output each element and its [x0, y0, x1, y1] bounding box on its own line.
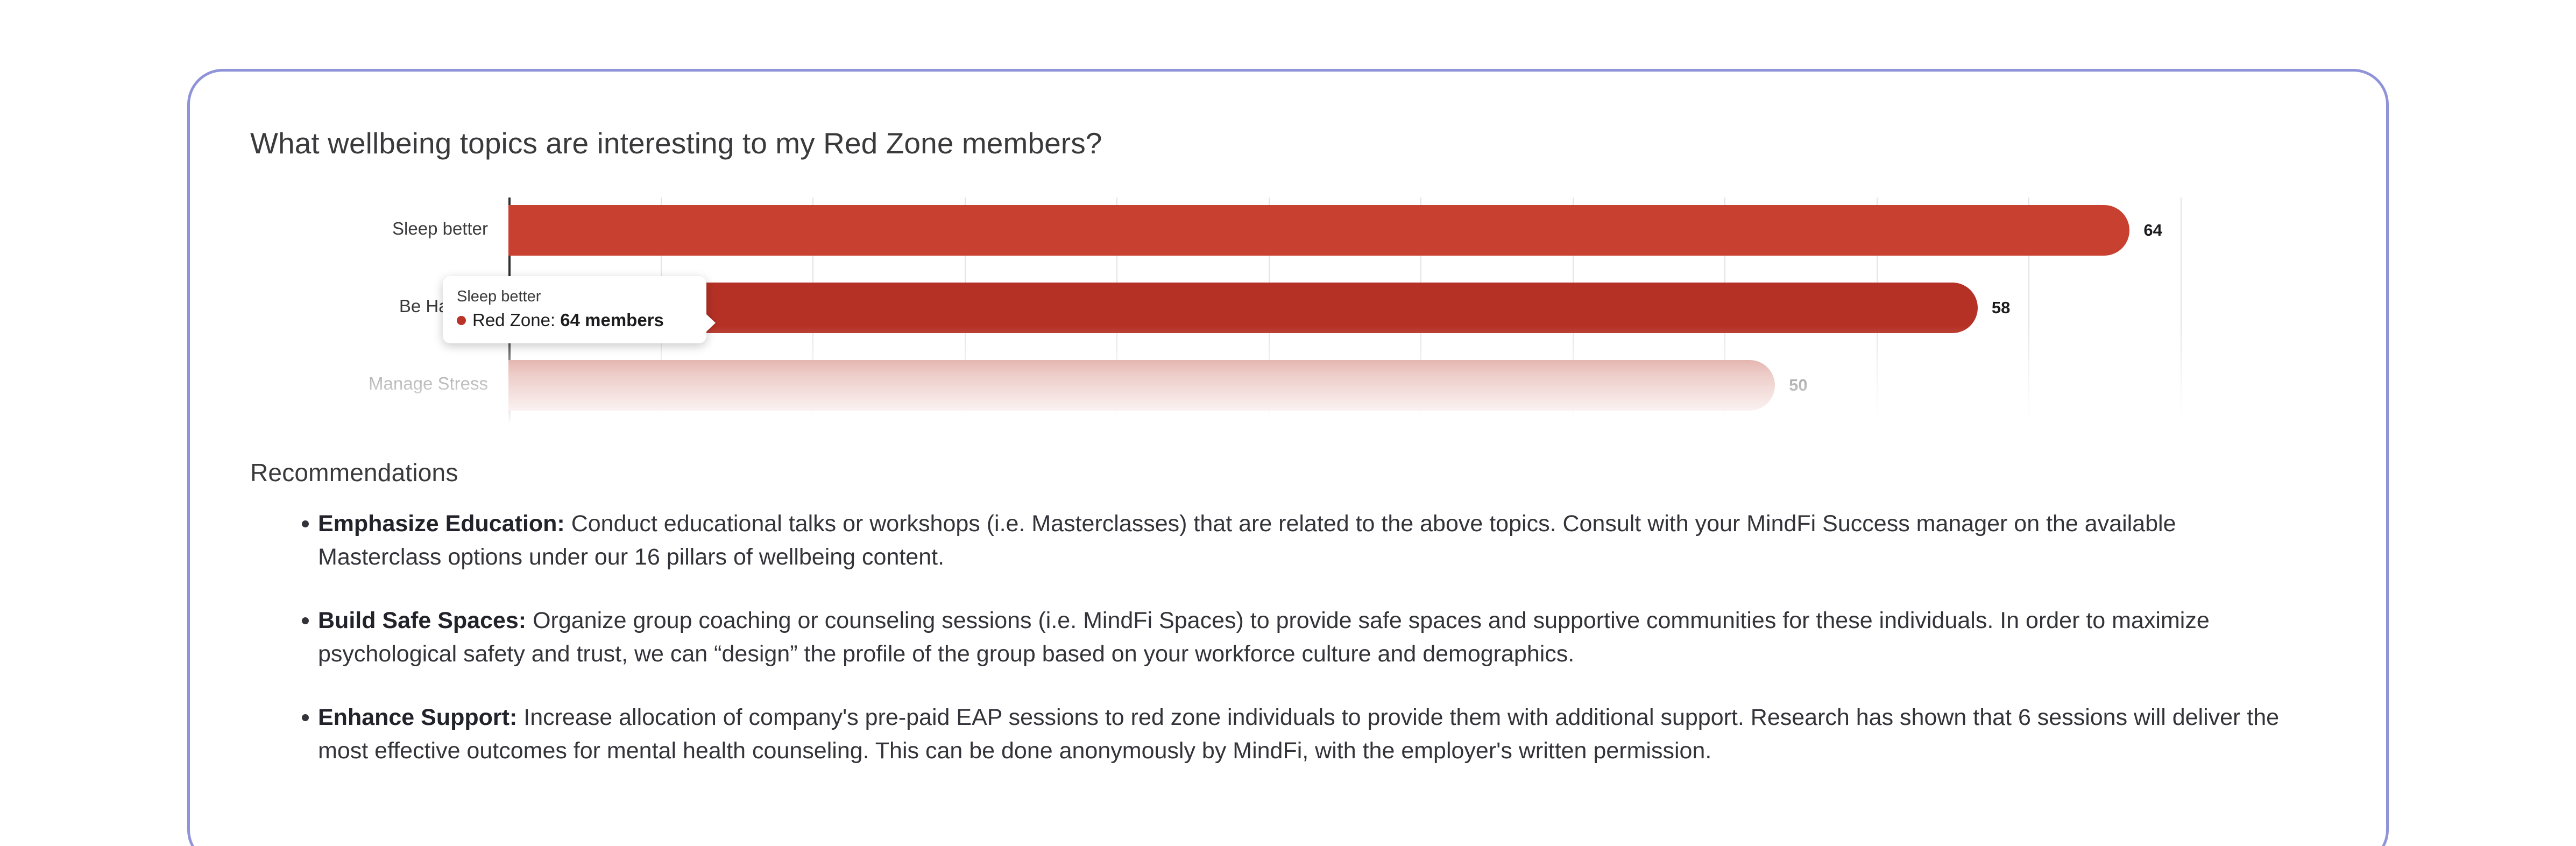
recommendation-item: Build Safe Spaces: Organize group coachi…: [250, 604, 2295, 671]
recommendation-item: Emphasize Education: Conduct educational…: [250, 507, 2295, 574]
recommendation-lead: Enhance Support:: [318, 704, 517, 730]
chart-bar[interactable]: [508, 360, 1775, 411]
chart-category-label: Manage Stress: [369, 373, 488, 394]
bullet-icon: [302, 520, 309, 527]
card-inner: What wellbeing topics are interesting to…: [190, 72, 2386, 846]
tooltip-title: Sleep better: [457, 288, 692, 306]
chart-bar-value-label: 50: [1789, 376, 1807, 395]
chart-plot-area: 6458504130: [508, 198, 2332, 467]
chart-bar-row[interactable]: 50: [508, 360, 2332, 411]
recommendation-body: Conduct educational talks or workshops (…: [318, 511, 2176, 570]
chart-bar-value-label: 58: [1992, 298, 2010, 318]
chart-bar[interactable]: [508, 438, 1547, 488]
recommendation-item: Enhance Support: Increase allocation of …: [250, 701, 2295, 768]
chart-gridline: [2332, 198, 2333, 429]
chart-bar[interactable]: [508, 283, 1978, 333]
recommendation-lead: Emphasize Education:: [318, 511, 565, 537]
recommendations-list: Emphasize Education: Conduct educational…: [250, 507, 2295, 767]
recommendations-heading: Recommendations: [250, 458, 458, 487]
chart-category-label: Sleep better: [392, 218, 488, 239]
recommendation-body: Organize group coaching or counseling se…: [318, 608, 2210, 667]
page-title: What wellbeing topics are interesting to…: [250, 125, 1102, 161]
tooltip-series-text: Red Zone: 64 members: [472, 310, 664, 330]
bullet-icon: [302, 617, 309, 624]
chart-bar-value-label: 64: [2143, 221, 2162, 240]
chart-bar[interactable]: [508, 205, 2129, 256]
recommendation-body: Increase allocation of company's pre-pai…: [318, 704, 2279, 764]
chart-bar-value-label: 41: [1561, 453, 1579, 473]
recommendation-lead: Build Safe Spaces:: [318, 608, 526, 633]
page-root: What wellbeing topics are interesting to…: [0, 0, 2576, 846]
series-color-dot: [457, 316, 466, 325]
insight-card: What wellbeing topics are interesting to…: [187, 69, 2389, 846]
chart-tooltip: Sleep better Red Zone: 64 members: [443, 276, 706, 343]
bullet-icon: [302, 714, 309, 721]
tooltip-series-row: Red Zone: 64 members: [457, 310, 692, 330]
tooltip-series-value: 64 members: [560, 310, 664, 330]
chart-bar-row[interactable]: 58: [508, 283, 2332, 333]
tooltip-series-label: Red Zone:: [472, 310, 555, 330]
chart-bar-row[interactable]: 41: [508, 438, 2332, 488]
chart-bar-row[interactable]: 64: [508, 205, 2332, 256]
